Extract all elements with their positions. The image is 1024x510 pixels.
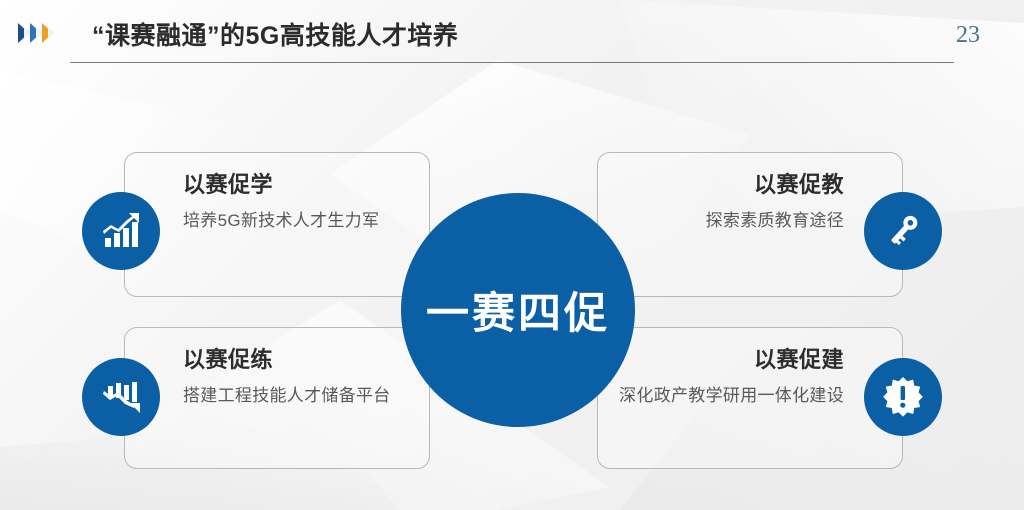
card-text-block: 以赛促练 搭建工程技能人才储备平台 [183,348,415,409]
card-text-block: 以赛促学 培养5G新技术人才生力军 [183,173,415,234]
card-description: 培养5G新技术人才生力军 [183,208,415,234]
card-top-right[interactable]: 以赛促教 探索素质教育途径 [597,152,903,297]
center-label: 一赛四促 [426,279,610,341]
slide-canvas: “课赛融通”的5G高技能人才培养 23 以赛促学 培养5G新技术人才生力军 以赛… [0,0,1024,510]
card-text-block: 以赛促教 探索素质教育途径 [612,173,844,234]
card-heading: 以赛促建 [612,348,844,372]
card-top-left[interactable]: 以赛促学 培养5G新技术人才生力军 [124,152,430,297]
slide-header: “课赛融通”的5G高技能人才培养 23 [0,0,1024,66]
chevron-group-icon [18,23,53,43]
starburst-alert-icon [864,358,942,436]
card-bottom-left[interactable]: 以赛促练 搭建工程技能人才储备平台 [124,327,430,469]
card-text-block: 以赛促建 深化政产教学研用一体化建设 [612,348,844,409]
page-title: “课赛融通”的5G高技能人才培养 [92,16,458,52]
card-description: 深化政产教学研用一体化建设 [612,383,844,409]
center-circle[interactable]: 一赛四促 [401,193,635,427]
card-description: 搭建工程技能人才储备平台 [183,383,415,409]
card-heading: 以赛促教 [612,173,844,197]
page-number: 23 [956,22,980,49]
card-heading: 以赛促学 [183,173,415,197]
header-divider [70,62,954,63]
card-heading: 以赛促练 [183,348,415,372]
card-bottom-right[interactable]: 以赛促建 深化政产教学研用一体化建设 [597,327,903,469]
declining-bar-chart-icon [82,358,160,436]
growth-bar-chart-icon [82,192,160,270]
card-description: 探索素质教育途径 [612,208,844,234]
key-icon [864,192,942,270]
